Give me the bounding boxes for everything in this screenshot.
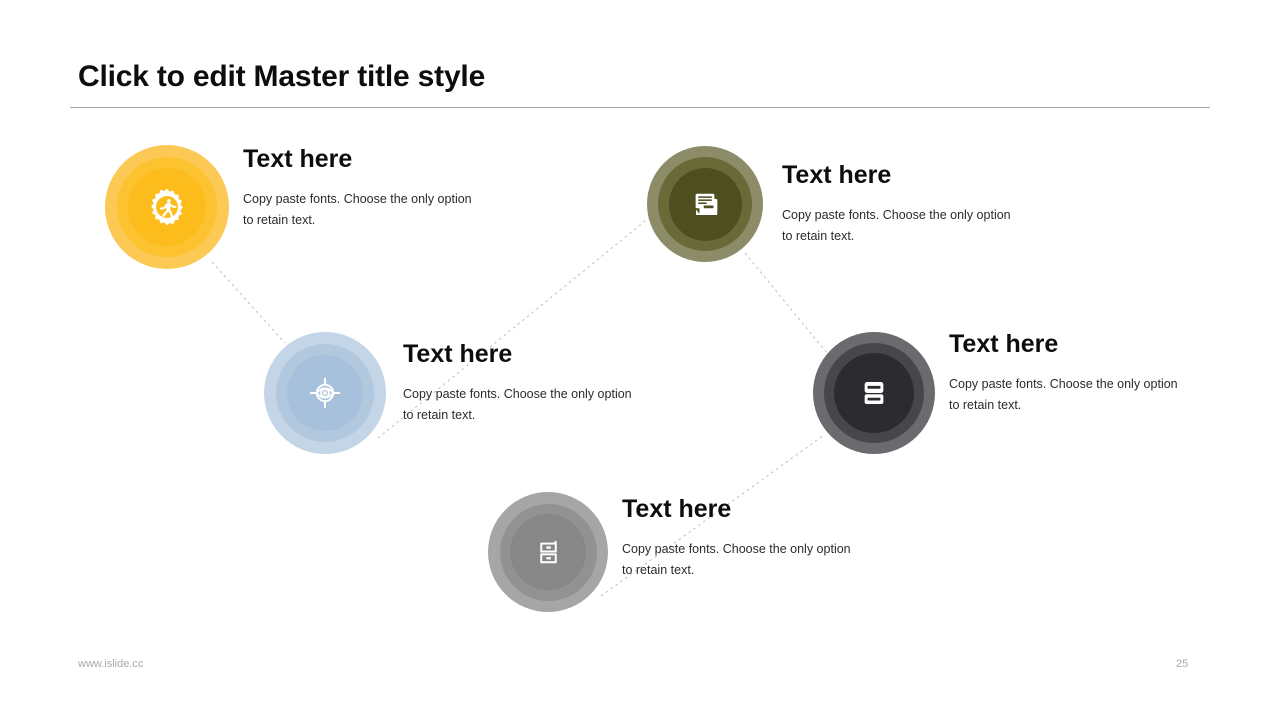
node-4-circle[interactable] bbox=[813, 332, 935, 454]
node-1-body: Copy paste fonts. Choose the only option… bbox=[243, 189, 478, 230]
node-4-body: Copy paste fonts. Choose the only option… bbox=[949, 374, 1184, 415]
node-5-heading: Text here bbox=[622, 496, 857, 522]
node-2-body: Copy paste fonts. Choose the only option… bbox=[782, 205, 1017, 246]
node-3-body: Copy paste fonts. Choose the only option… bbox=[403, 384, 638, 425]
node-2-ring-core bbox=[669, 168, 742, 241]
documents-stack-icon bbox=[688, 187, 722, 221]
connector-node1-node3 bbox=[212, 262, 285, 343]
slide-canvas: Click to edit Master title style bbox=[0, 0, 1280, 720]
node-5-ring-mid bbox=[500, 504, 597, 601]
page-title: Click to edit Master title style bbox=[78, 60, 485, 94]
node-1-heading: Text here bbox=[243, 146, 478, 172]
title-divider bbox=[70, 107, 1210, 108]
server-rack-icon bbox=[857, 376, 891, 410]
node-2-heading: Text here bbox=[782, 162, 1017, 188]
footer-url[interactable]: www.islide.cc bbox=[78, 658, 143, 670]
node-5-ring-core bbox=[510, 514, 586, 590]
node-3-circle[interactable] bbox=[264, 332, 386, 454]
node-1-text-block: Text here Copy paste fonts. Choose the o… bbox=[243, 146, 478, 230]
node-4-heading: Text here bbox=[949, 331, 1184, 357]
target-eye-icon bbox=[306, 374, 344, 412]
node-3-ring-mid bbox=[276, 344, 374, 442]
node-4-ring-mid bbox=[824, 343, 924, 443]
node-2-ring-mid bbox=[658, 157, 752, 251]
node-4-text-block: Text here Copy paste fonts. Choose the o… bbox=[949, 331, 1184, 415]
node-3-ring-core bbox=[287, 355, 363, 431]
gear-running-person-icon bbox=[147, 187, 187, 227]
connector-node2-node4 bbox=[745, 253, 827, 353]
page-number: 25 bbox=[1176, 658, 1188, 670]
node-1-circle[interactable] bbox=[105, 145, 229, 269]
node-1-ring-mid bbox=[117, 157, 217, 257]
node-1-ring-core bbox=[128, 168, 206, 246]
node-3-text-block: Text here Copy paste fonts. Choose the o… bbox=[403, 341, 638, 425]
node-5-body: Copy paste fonts. Choose the only option… bbox=[622, 539, 857, 580]
node-2-text-block: Text here Copy paste fonts. Choose the o… bbox=[782, 162, 1017, 246]
node-5-text-block: Text here Copy paste fonts. Choose the o… bbox=[622, 496, 857, 580]
filing-cabinet-icon bbox=[532, 536, 565, 569]
node-4-ring-core bbox=[834, 353, 914, 433]
node-3-heading: Text here bbox=[403, 341, 638, 367]
node-5-circle[interactable] bbox=[488, 492, 608, 612]
node-2-circle[interactable] bbox=[647, 146, 763, 262]
